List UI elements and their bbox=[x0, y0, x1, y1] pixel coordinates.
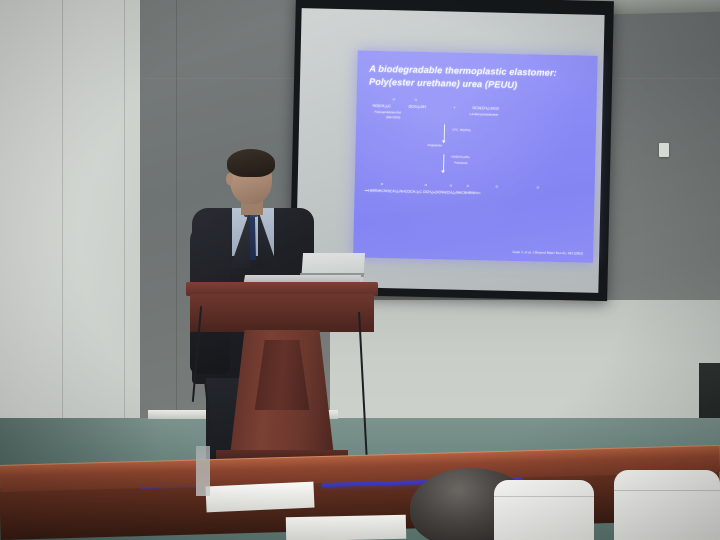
reaction-arrow-1 bbox=[444, 124, 445, 142]
hair bbox=[227, 149, 275, 177]
lectern-front-panel bbox=[190, 294, 374, 332]
cable bbox=[358, 312, 368, 462]
intermediate-label: Prepolymer bbox=[428, 144, 442, 148]
slide-title: A biodegradable thermoplastic elastomer:… bbox=[369, 63, 586, 93]
chain-extender-formula: H₂N(CH₂)₄NH₂ bbox=[451, 156, 469, 160]
reaction-conditions: 72°C, Sn(OCt)₂ bbox=[452, 129, 471, 133]
slide-citation: Guan J, et al. J Biomed Mater Res 61, 49… bbox=[512, 250, 583, 256]
ear bbox=[226, 173, 233, 185]
reactant-1-detail: (Mw=2000) bbox=[386, 116, 400, 120]
product-carbonyl-5: O bbox=[496, 185, 498, 189]
reaction-arrow-2 bbox=[443, 154, 444, 172]
lecture-hall-photo: A biodegradable thermoplastic elastomer:… bbox=[0, 0, 720, 540]
handout-paper bbox=[205, 482, 314, 513]
chair-back-cover bbox=[494, 480, 594, 540]
reactant-1-formula: HO(CH₂)₅C bbox=[372, 104, 391, 109]
wooden-lectern bbox=[186, 282, 378, 472]
reactant-2-name: 1,4-diisocyanatobutane bbox=[469, 113, 498, 117]
product-carbonyl-2: O bbox=[425, 183, 427, 187]
reactant-1-formula-tail: OCH₂)₅OH bbox=[408, 105, 426, 110]
product-carbonyl-1: O bbox=[381, 182, 383, 186]
handout-paper bbox=[286, 515, 406, 540]
reactant-2-formula: OCN(CH₂)₄NCO bbox=[472, 106, 499, 111]
projected-slide: A biodegradable thermoplastic elastomer:… bbox=[353, 50, 598, 262]
wall-fixture bbox=[659, 143, 669, 157]
cable bbox=[204, 382, 214, 454]
plus-sign: + bbox=[453, 106, 455, 111]
screen-surface: A biodegradable thermoplastic elastomer:… bbox=[295, 8, 604, 293]
desk-partition bbox=[196, 446, 210, 496]
product-formula: •••HNRNHCNH(CH₂)₄NHCOCH₂)₅C OCH₂)₅OCNH(C… bbox=[364, 189, 480, 196]
chain-extender-name: Putrescine bbox=[454, 162, 467, 166]
product-carbonyl-3: O bbox=[450, 184, 452, 188]
left-wall bbox=[0, 0, 150, 420]
audience-desk bbox=[0, 452, 720, 540]
carbonyl-label-2: O bbox=[415, 98, 417, 102]
carbonyl-label-1: O bbox=[393, 97, 395, 101]
chair-back-cover bbox=[614, 470, 720, 540]
product-carbonyl-4: O bbox=[467, 184, 469, 188]
product-carbonyl-6: O bbox=[537, 186, 539, 190]
